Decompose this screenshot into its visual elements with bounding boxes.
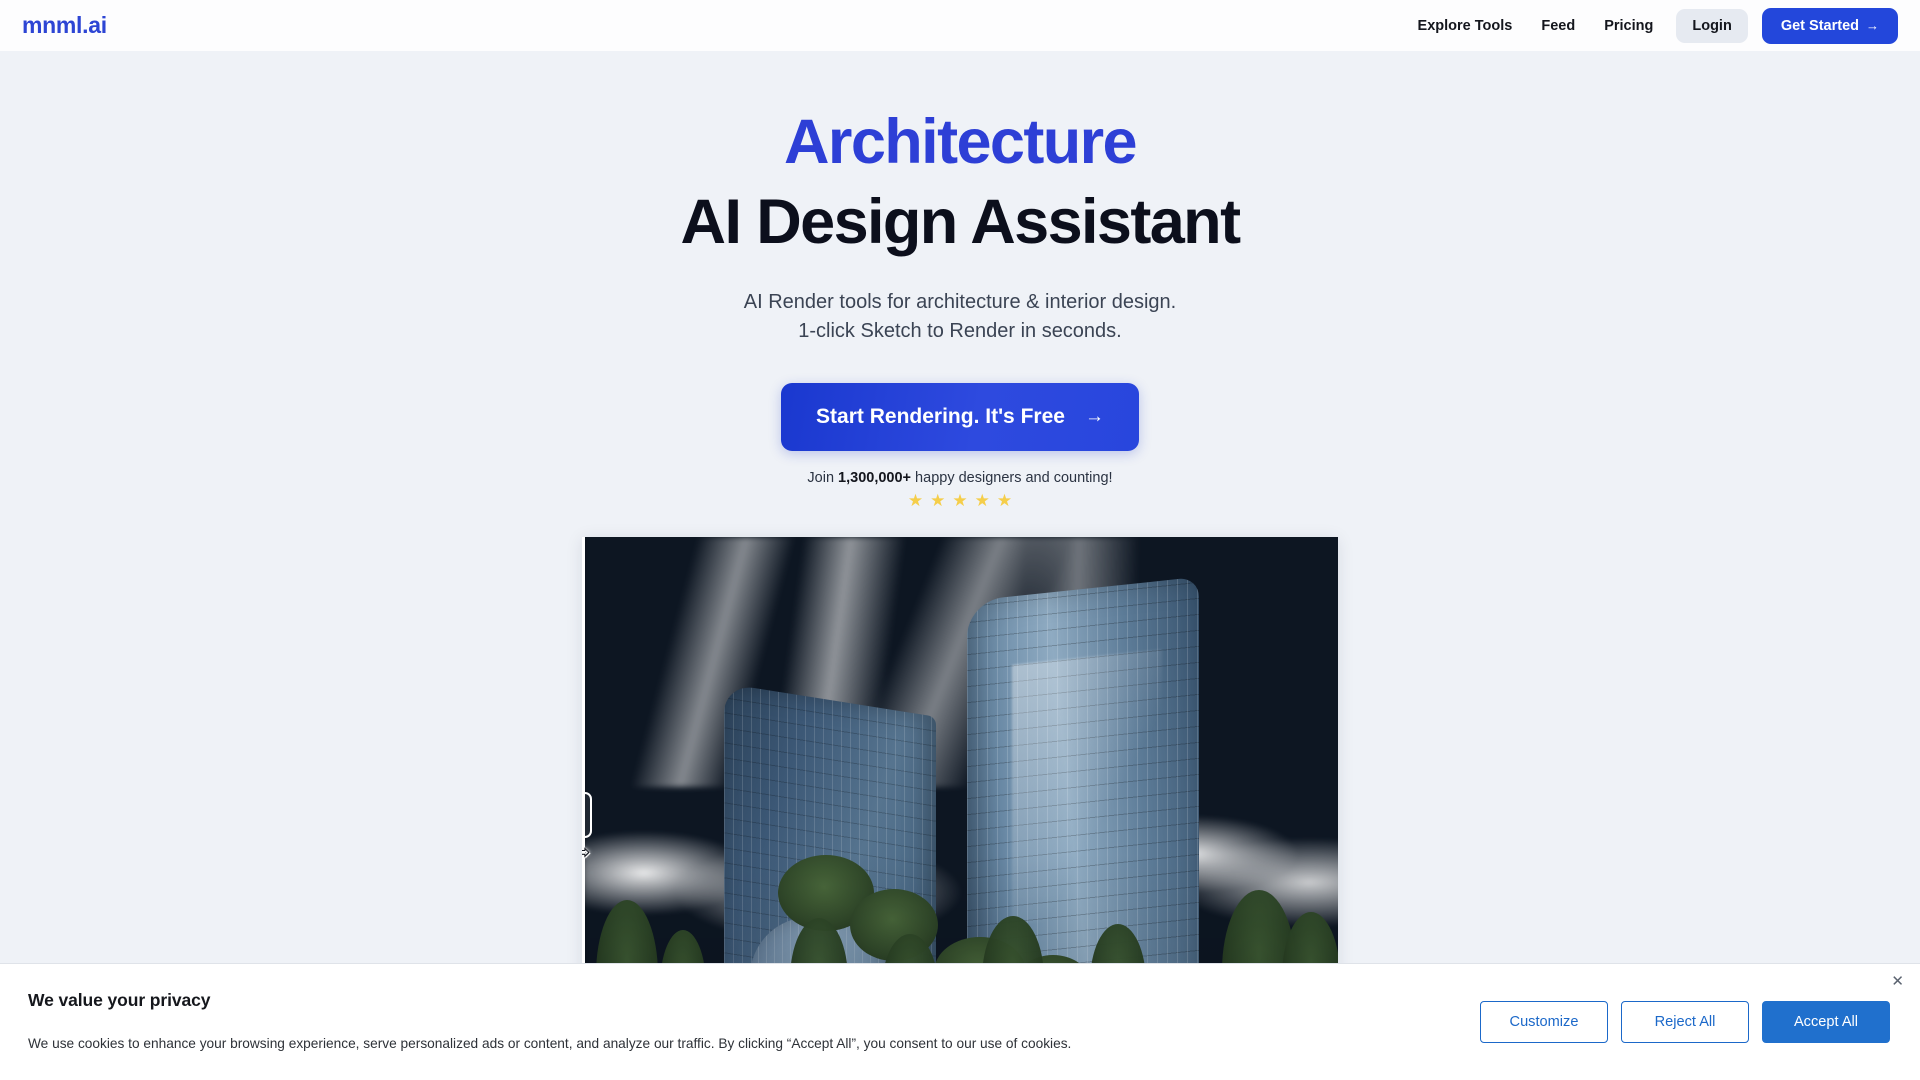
drag-cursor-icon: ⇨ — [582, 842, 591, 863]
star-icon: ★ — [930, 492, 945, 509]
start-rendering-button[interactable]: Start Rendering. It's Free → — [781, 383, 1139, 451]
cookie-text-block: We value your privacy We use cookies to … — [28, 990, 1456, 1053]
cookie-banner-title: We value your privacy — [28, 990, 1456, 1011]
star-icon: ★ — [997, 492, 1012, 509]
get-started-button[interactable]: Get Started → — [1762, 8, 1898, 44]
site-logo[interactable]: mnml.ai — [22, 12, 107, 39]
cookie-banner-actions: Customize Reject All Accept All — [1480, 1001, 1890, 1043]
hero-subtitle: AI Render tools for architecture & inter… — [744, 288, 1176, 347]
customize-cookies-button[interactable]: Customize — [1480, 1001, 1608, 1043]
social-proof-prefix: Join — [807, 470, 838, 486]
rating-stars: ★ ★ ★ ★ ★ — [807, 492, 1112, 509]
page-title-main: AI Design Assistant — [681, 190, 1240, 254]
cookie-consent-banner: We value your privacy We use cookies to … — [0, 963, 1920, 1080]
arrow-right-icon: → — [1085, 406, 1104, 428]
login-button[interactable]: Login — [1676, 9, 1747, 43]
arrow-right-icon: → — [1866, 18, 1879, 33]
cloud-bank — [582, 740, 1338, 930]
hero-section: Architecture AI Design Assistant AI Rend… — [0, 51, 1920, 1080]
hero-subtitle-line-2: 1-click Sketch to Render in seconds. — [744, 317, 1176, 347]
reject-all-cookies-button[interactable]: Reject All — [1621, 1001, 1749, 1043]
nav-link-explore-tools[interactable]: Explore Tools — [1406, 10, 1525, 42]
page-title-accent: Architecture — [681, 110, 1240, 174]
before-after-slider-handle[interactable] — [582, 792, 592, 838]
page-title: Architecture AI Design Assistant — [681, 110, 1240, 255]
star-icon: ★ — [975, 492, 990, 509]
star-icon: ★ — [952, 492, 967, 509]
hero-subtitle-line-1: AI Render tools for architecture & inter… — [744, 288, 1176, 318]
get-started-label: Get Started — [1781, 18, 1859, 34]
hero-cta-wrapper: Start Rendering. It's Free → — [781, 383, 1139, 451]
close-icon[interactable]: ✕ — [1891, 974, 1904, 989]
star-icon: ★ — [908, 492, 923, 509]
social-proof-count: 1,300,000+ — [838, 470, 911, 486]
cookie-banner-body: We use cookies to enhance your browsing … — [28, 1035, 1456, 1053]
nav-link-feed[interactable]: Feed — [1529, 10, 1587, 42]
social-proof-suffix: happy designers and counting! — [911, 470, 1113, 486]
tower-glass-reflection — [1012, 649, 1162, 925]
site-header: mnml.ai Explore Tools Feed Pricing Login… — [0, 0, 1920, 51]
main-navigation: Explore Tools Feed Pricing Login Get Sta… — [1406, 8, 1898, 44]
start-rendering-label: Start Rendering. It's Free — [816, 405, 1065, 429]
accept-all-cookies-button[interactable]: Accept All — [1762, 1001, 1890, 1043]
nav-link-pricing[interactable]: Pricing — [1592, 10, 1665, 42]
social-proof: Join 1,300,000+ happy designers and coun… — [807, 470, 1112, 509]
